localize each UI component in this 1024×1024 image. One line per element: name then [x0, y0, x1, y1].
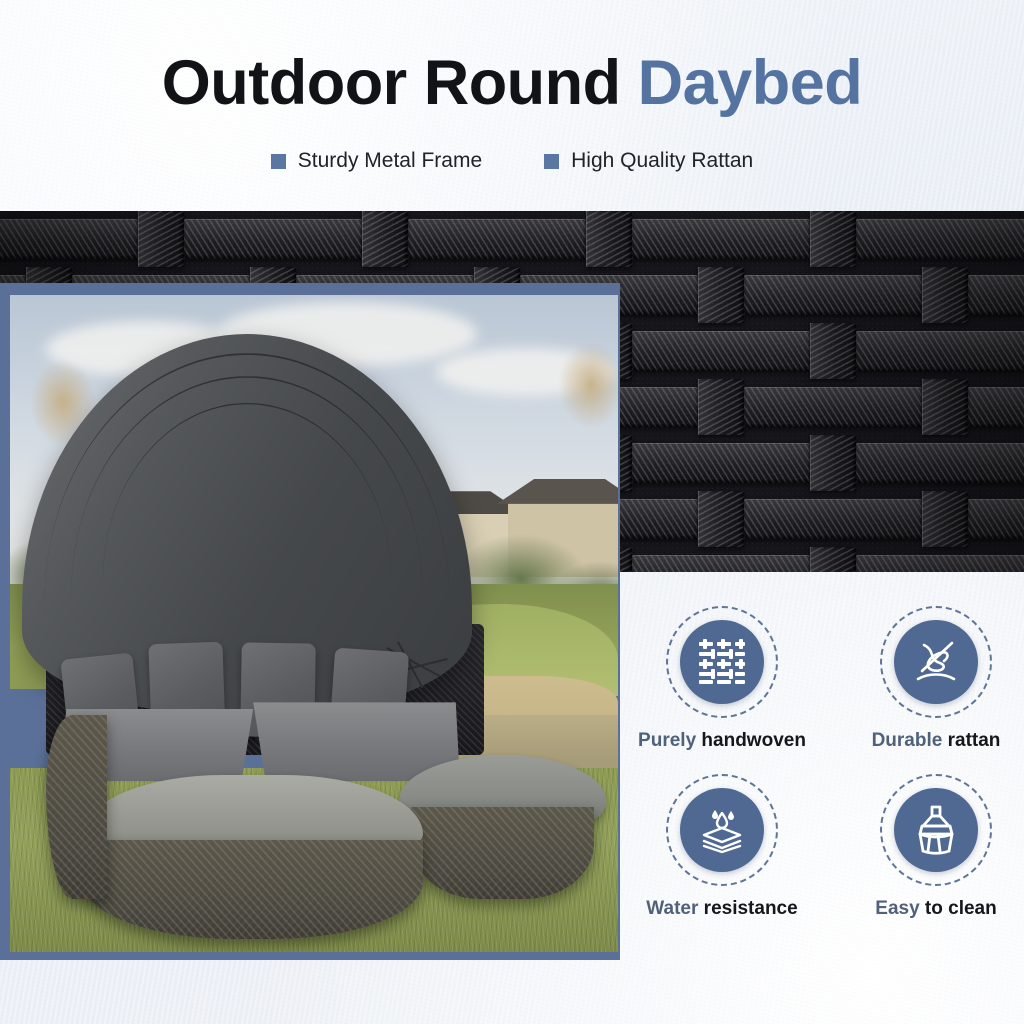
feature-label-word1: Purely [638, 730, 701, 751]
icon-ring [880, 774, 992, 886]
icon-ring [666, 606, 778, 718]
feature-label-word2: handwoven [701, 730, 806, 751]
product-photo [10, 295, 618, 952]
bullet-item: Sturdy Metal Frame [271, 149, 482, 173]
header: Outdoor Round Daybed Sturdy Metal Frame … [0, 52, 1024, 173]
feature-label: Purely handwoven [638, 730, 806, 752]
icon-ring [880, 606, 992, 718]
feature-row: Purely handwoven [636, 606, 1024, 752]
bullet-label: Sturdy Metal Frame [298, 149, 482, 173]
page-title: Outdoor Round Daybed [0, 52, 1024, 115]
feature-label: Durable rattan [872, 730, 1001, 752]
title-primary: Outdoor Round [162, 48, 638, 118]
broom-icon [894, 788, 978, 872]
bullet-square-icon [271, 154, 286, 169]
feature-row: Water resistance [636, 774, 1024, 920]
feature-item: Purely handwoven [636, 606, 808, 752]
woven-basket-icon [680, 620, 764, 704]
feature-label-word2: resistance [704, 898, 798, 919]
feature-item: Easy to clean [850, 774, 1022, 920]
feature-label-word2: to clean [925, 898, 997, 919]
feature-label: Water resistance [646, 898, 797, 920]
feature-item: Water resistance [636, 774, 808, 920]
water-drops-layers-icon [680, 788, 764, 872]
side-ottoman-base [411, 807, 593, 899]
photo-scene [10, 295, 618, 952]
bullet-square-icon [544, 154, 559, 169]
feature-label-word2: rattan [948, 730, 1001, 751]
feature-label-word1: Water [646, 898, 703, 919]
daybed-left-base [46, 715, 107, 899]
feature-label-word1: Durable [872, 730, 948, 751]
feature-label: Easy to clean [875, 898, 996, 920]
bullet-label: High Quality Rattan [571, 149, 753, 173]
feature-icon-grid: Purely handwoven [636, 606, 1024, 942]
feature-item: Durable rattan [850, 606, 1022, 752]
icon-ring [666, 774, 778, 886]
product-infographic: Outdoor Round Daybed Sturdy Metal Frame … [0, 0, 1024, 1024]
feature-bullets: Sturdy Metal Frame High Quality Rattan [0, 149, 1024, 173]
feature-label-word1: Easy [875, 898, 925, 919]
front-ottoman-base [83, 840, 423, 939]
no-deformation-icon [894, 620, 978, 704]
bullet-item: High Quality Rattan [544, 149, 753, 173]
title-accent: Daybed [638, 48, 863, 118]
